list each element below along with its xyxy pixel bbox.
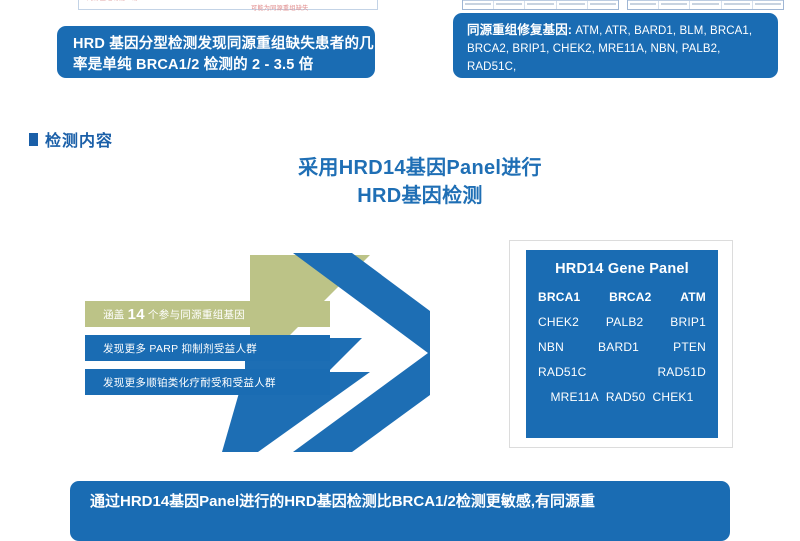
- gene-label: PTEN: [673, 340, 706, 354]
- gene-label: CHEK2: [538, 315, 579, 329]
- table-row: [628, 0, 783, 9]
- table-cell: [588, 1, 618, 9]
- table-cell: [525, 1, 556, 9]
- arrow-bar-3: 发现更多顺铂类化疗耐受和受益人群: [85, 369, 330, 395]
- arrow-bar-2-label: 发现更多 PARP 抑制剂受益人群: [103, 341, 257, 356]
- arrow-bar-1-suffix: 个参与同源重组基因: [148, 307, 245, 322]
- arrow-bar-labels: 涵盖 14 个参与同源重组基因 发现更多 PARP 抑制剂受益人群 发现更多顺铂…: [85, 301, 365, 397]
- table-cell: [494, 1, 525, 9]
- gene-label: BARD1: [598, 340, 639, 354]
- gene-row-1: BRCA1 BRCA2 ATM: [538, 290, 706, 304]
- gene-label: PALB2: [606, 315, 643, 329]
- gene-panel-title: HRD14 Gene Panel: [536, 261, 708, 277]
- table-cell: [753, 1, 783, 9]
- hr-genes-line-2: BRCA2, BRIP1, CHEK2, MRE11A, NBN, PALB2,…: [467, 43, 720, 73]
- gene-row-5: MRE11A RAD50 CHEK1: [538, 390, 706, 404]
- bottom-callout-line-1: 通过HRD14基因Panel进行的HRD基因检测比BRCA1/2检测更敏感,有同…: [90, 491, 710, 513]
- square-bullet-icon: [29, 133, 38, 146]
- poster-page: 同源重组功能正常 Homozygous loss 7% 4% 可能为同源重组缺失: [0, 0, 800, 499]
- mini-table-right: [627, 0, 784, 10]
- gene-label: NBN: [538, 340, 564, 354]
- top-left-figure-fragment: 同源重组功能正常 Homozygous loss 7% 4% 可能为同源重组缺失: [78, 0, 378, 10]
- gene-label: BRCA1: [538, 290, 580, 304]
- gene-label: MRE11A: [550, 390, 598, 404]
- hrd-callout-line-2: 率是单纯 BRCA1/2 检测的 2 - 3.5 倍: [73, 55, 359, 76]
- table-cell: [628, 1, 659, 9]
- page-title-line-1: 采用HRD14基因Panel进行: [240, 154, 600, 182]
- gene-row-2: CHEK2 PALB2 BRIP1: [538, 315, 706, 329]
- arrow-bar-2: 发现更多 PARP 抑制剂受益人群: [85, 335, 330, 361]
- mini-table-left: [462, 0, 619, 10]
- table-cell: [690, 1, 721, 9]
- top-right-table-fragments: [462, 0, 784, 10]
- gene-label: BRCA2: [609, 290, 651, 304]
- section-heading-label: 检测内容: [45, 127, 113, 151]
- table-cell: [463, 1, 494, 9]
- hrd-genotyping-callout: HRD 基因分型检测发现同源重组缺失患者的几 率是单纯 BRCA1/2 检测的 …: [57, 26, 375, 78]
- hr-genes-line-3: RAD51D, RBBP8, SLX4, and XRCC2: [467, 79, 662, 91]
- arrow-bar-3-label: 发现更多顺铂类化疗耐受和受益人群: [103, 375, 276, 390]
- gene-row-4: RAD51C RAD51D: [538, 365, 706, 379]
- gene-label: RAD51D: [657, 365, 706, 379]
- figure-caption-hr-normal: 同源重组功能正常: [87, 0, 138, 2]
- table-row: [463, 0, 618, 9]
- table-cell: [722, 1, 753, 9]
- arrow-bar-1: 涵盖 14 个参与同源重组基因: [85, 301, 330, 327]
- page-title-line-2: HRD基因检测: [240, 182, 600, 210]
- section-heading: 检测内容: [29, 127, 113, 151]
- figure-caption-hrd-possible: 可能为同源重组缺失: [251, 3, 309, 12]
- gene-panel-inner: HRD14 Gene Panel BRCA1 BRCA2 ATM CHEK2 P…: [526, 250, 718, 438]
- gene-panel-card: HRD14 Gene Panel BRCA1 BRCA2 ATM CHEK2 P…: [509, 240, 733, 448]
- arrow-bar-1-number: 14: [125, 306, 148, 323]
- gene-label: RAD50: [606, 390, 646, 404]
- gene-row-3: NBN BARD1 PTEN: [538, 340, 706, 354]
- gene-label: CHEK1: [653, 390, 694, 404]
- hr-genes-text: 同源重组修复基因: ATM, ATR, BARD1, BLM, BRCA1, B…: [467, 21, 764, 94]
- page-title: 采用HRD14基因Panel进行 HRD基因检测: [240, 154, 600, 210]
- hr-repair-genes-callout: 同源重组修复基因: ATM, ATR, BARD1, BLM, BRCA1, B…: [453, 13, 778, 78]
- table-cell: [557, 1, 588, 9]
- table-cell: [659, 1, 690, 9]
- arrow-bar-1-prefix: 涵盖: [103, 307, 125, 322]
- gene-label: ATM: [680, 290, 706, 304]
- figure-caption-loss-word: loss 7%: [231, 0, 251, 2]
- gene-label: RAD51C: [538, 365, 587, 379]
- bottom-summary-callout: 通过HRD14基因Panel进行的HRD基因检测比BRCA1/2检测更敏感,有同…: [70, 481, 730, 541]
- hrd-callout-line-1: HRD 基因分型检测发现同源重组缺失患者的几: [73, 34, 359, 55]
- hr-genes-label: 同源重组修复基因:: [467, 23, 572, 37]
- gene-label: BRIP1: [670, 315, 706, 329]
- hr-genes-line-1: ATM, ATR, BARD1, BLM, BRCA1,: [572, 25, 752, 37]
